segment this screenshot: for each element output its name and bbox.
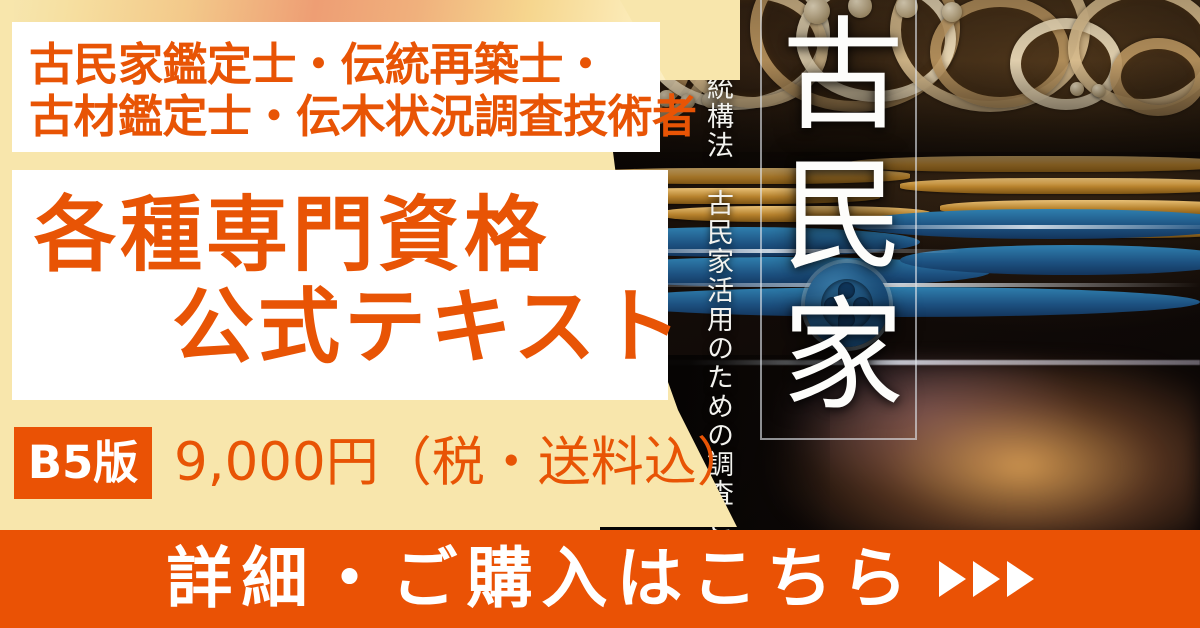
headline-box: 古民家鑑定士・伝統再築士・ 古材鑑定士・伝木状況調査技術者 bbox=[12, 22, 660, 152]
cta-label: 詳細・ご購入はこちら bbox=[167, 530, 917, 628]
headline-line-1: 古民家鑑定士・伝統再築士・ bbox=[29, 39, 608, 91]
promo-banner: 古 民 家 伝統構法 古民家活用のための調査と再生の 古民家鑑定士・伝統再築士・… bbox=[0, 0, 1200, 628]
cover-title-char-1: 古 bbox=[782, 6, 898, 146]
cta-arrow-group bbox=[939, 561, 1034, 597]
headline-line-2: 古材鑑定士・伝木状況調査技術者 bbox=[29, 91, 697, 143]
chevron-right-icon bbox=[973, 561, 1000, 597]
format-badge-b5: B5版 bbox=[14, 427, 152, 499]
cover-title-char-3: 家 bbox=[782, 286, 898, 426]
cta-bar[interactable]: 詳細・ご購入はこちら bbox=[0, 530, 1200, 628]
main-title-line-2: 公式テキスト bbox=[172, 280, 686, 376]
main-title-line-1: 各種専門資格 bbox=[34, 188, 550, 284]
chevron-right-icon bbox=[939, 561, 966, 597]
chevron-right-icon bbox=[1007, 561, 1034, 597]
cover-title-char-2: 民 bbox=[782, 146, 898, 286]
price-row: B5版 9,000円（税・送料込） bbox=[14, 427, 750, 499]
price-amount: 9,000円（税・送料込） bbox=[174, 427, 750, 499]
cover-title-vertical: 古 民 家 bbox=[782, 6, 898, 436]
main-title-box: 各種専門資格 公式テキスト bbox=[12, 170, 668, 400]
